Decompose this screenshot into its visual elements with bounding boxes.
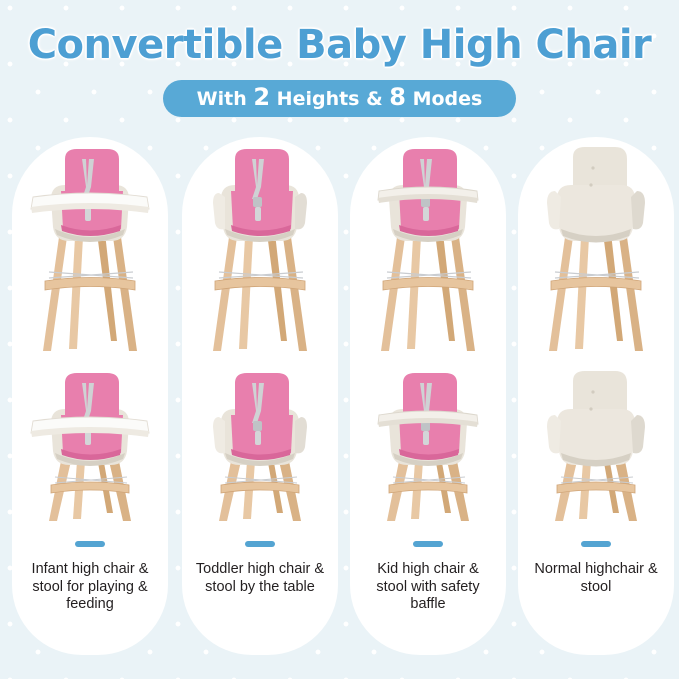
- status-badge: With 2 Heights & 8 Modes: [163, 80, 517, 117]
- caption-text: Kid high chair & stool with safety baffl…: [350, 561, 506, 614]
- page-title: Convertible Baby High Chair: [0, 22, 679, 68]
- badge-middle: Heights &: [270, 88, 389, 110]
- low-chair-no-tray-pink-icon: [185, 365, 335, 535]
- high-chair-no-tray-pink-icon: [185, 141, 335, 359]
- caption-text: Toddler high chair & stool by the table: [182, 561, 338, 596]
- badge-prefix: With: [197, 88, 254, 110]
- low-chair-with-tray-pink-icon: [15, 365, 165, 535]
- infographic-canvas: Convertible Baby High Chair With 2 Heigh…: [0, 0, 679, 679]
- badge-suffix: Modes: [406, 88, 482, 110]
- blue-dash-icon: [245, 541, 275, 547]
- low-chair-plain-cream-icon: [521, 365, 671, 535]
- product-card-normal[interactable]: Normal highchair & stool: [518, 137, 674, 655]
- chair-image-high-normal: [518, 141, 674, 359]
- product-card-toddler[interactable]: Toddler high chair & stool by the table: [182, 137, 338, 655]
- product-card-infant[interactable]: Infant high chair & stool for playing & …: [12, 137, 168, 655]
- chair-image-low-normal: [518, 365, 674, 535]
- badge-container: With 2 Heights & 8 Modes: [0, 80, 679, 117]
- blue-dash-icon: [413, 541, 443, 547]
- chair-image-low-kid: [350, 365, 506, 535]
- high-chair-with-baffle-pink-icon: [353, 141, 503, 359]
- chair-image-low-toddler: [182, 365, 338, 535]
- chair-image-high-infant: [12, 141, 168, 359]
- caption-text: Normal highchair & stool: [518, 561, 674, 596]
- header: Convertible Baby High Chair With 2 Heigh…: [0, 0, 679, 130]
- caption-block-kid: Kid high chair & stool with safety baffl…: [350, 541, 506, 614]
- caption-text: Infant high chair & stool for playing & …: [12, 561, 168, 614]
- badge-heights-count: 2: [253, 83, 270, 111]
- badge-modes-count: 8: [389, 83, 406, 111]
- caption-block-normal: Normal highchair & stool: [518, 541, 674, 596]
- chair-image-low-infant: [12, 365, 168, 535]
- high-chair-plain-cream-icon: [521, 141, 671, 359]
- chair-image-high-toddler: [182, 141, 338, 359]
- caption-block-toddler: Toddler high chair & stool by the table: [182, 541, 338, 596]
- product-card-kid[interactable]: Kid high chair & stool with safety baffl…: [350, 137, 506, 655]
- blue-dash-icon: [75, 541, 105, 547]
- low-chair-with-baffle-pink-icon: [353, 365, 503, 535]
- panel-row: Infant high chair & stool for playing & …: [0, 137, 679, 657]
- blue-dash-icon: [581, 541, 611, 547]
- chair-image-high-kid: [350, 141, 506, 359]
- caption-block-infant: Infant high chair & stool for playing & …: [12, 541, 168, 614]
- high-chair-with-tray-pink-icon: [15, 141, 165, 359]
